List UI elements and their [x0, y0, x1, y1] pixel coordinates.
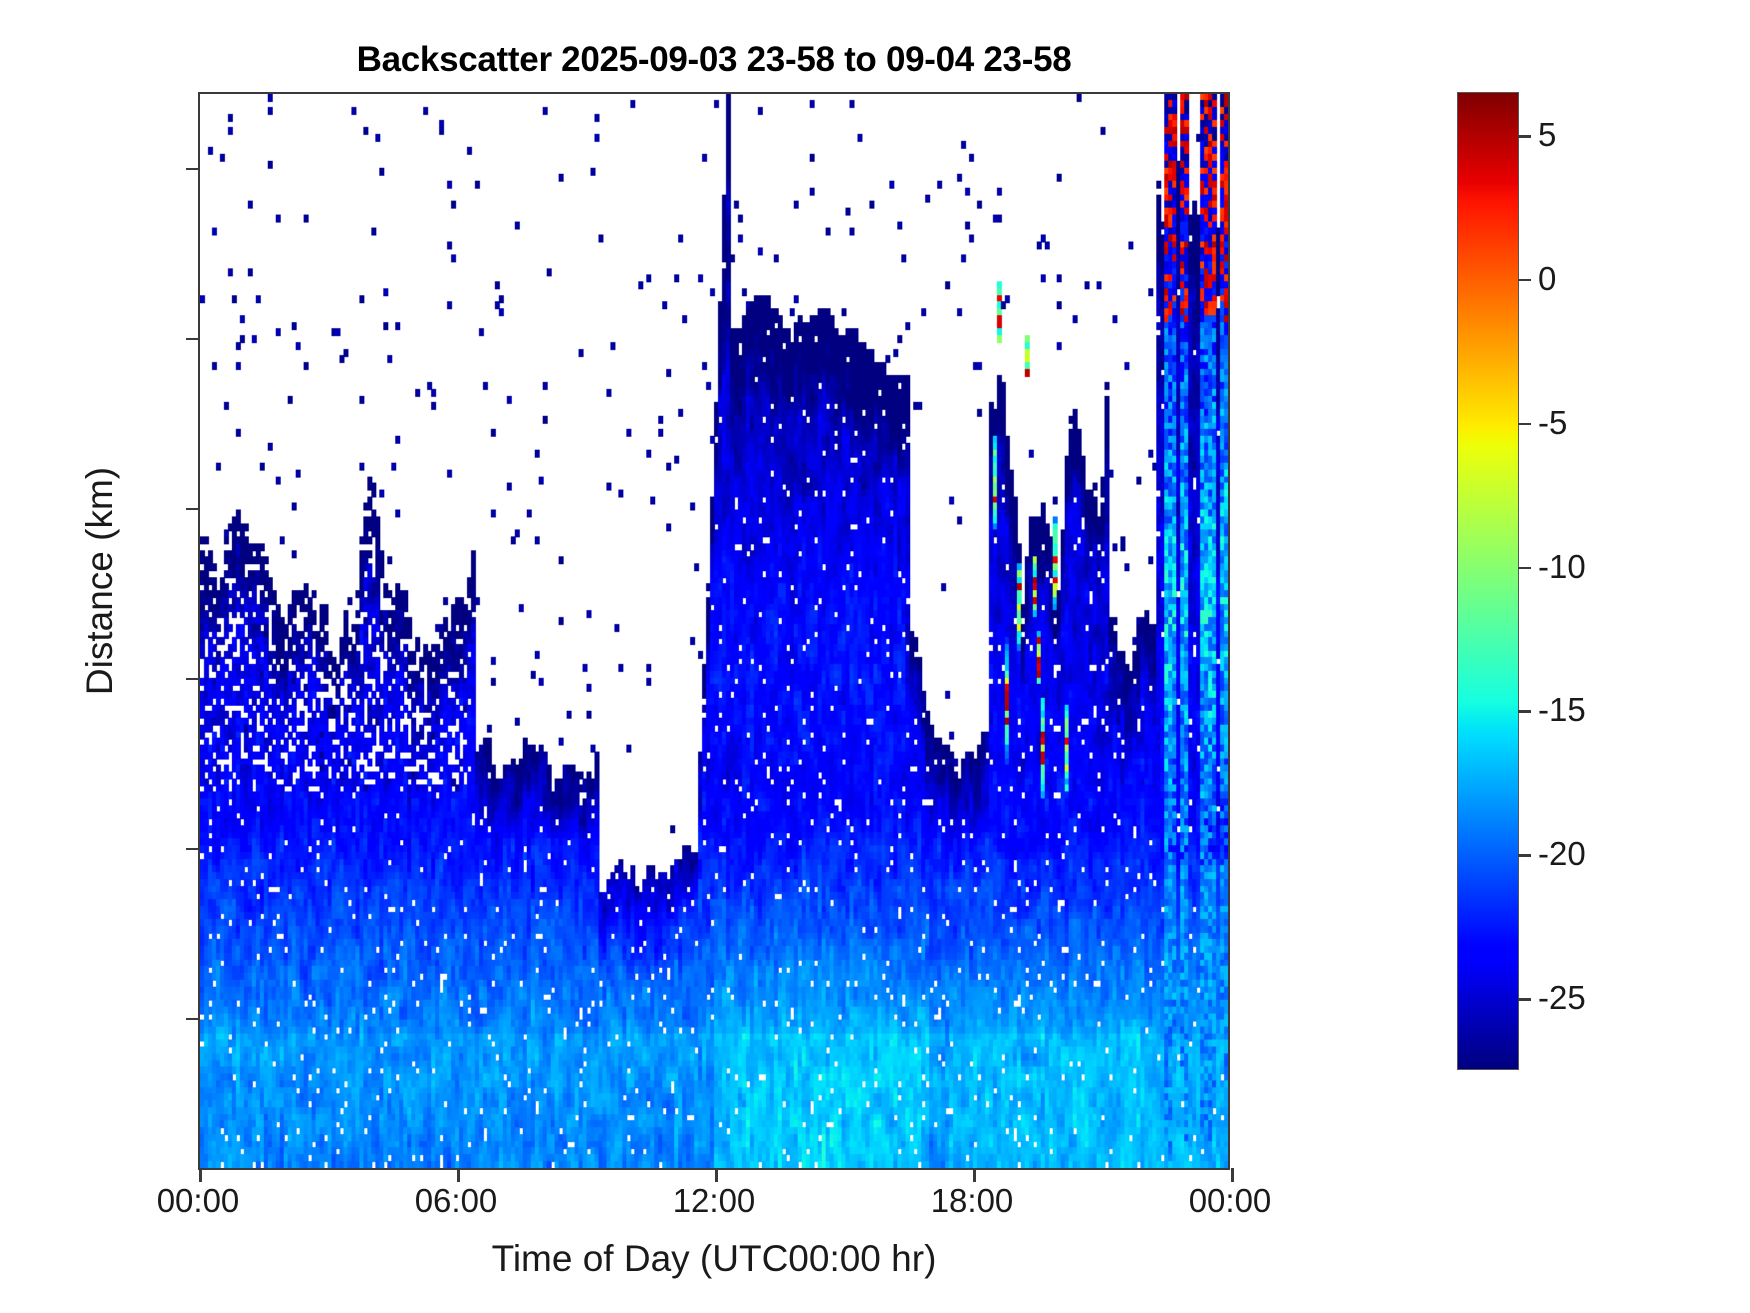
colorbar-tick-mark — [1518, 423, 1531, 426]
x-tick-mark — [973, 1168, 976, 1182]
colorbar-tick-label: 5 — [1538, 116, 1678, 154]
x-axis-title: Time of Day (UTC00:00 hr) — [198, 1238, 1230, 1280]
x-tick-mark — [715, 1168, 718, 1182]
y-tick-mark — [186, 848, 200, 851]
colorbar-tick-mark — [1518, 567, 1531, 570]
y-axis-title: Distance (km) — [79, 371, 121, 791]
figure-root: Backscatter 2025-09-03 23-58 to 09-04 23… — [0, 0, 1750, 1313]
colorbar-tick-mark — [1518, 135, 1531, 138]
colorbar-gradient-canvas — [1458, 93, 1518, 1069]
colorbar-tick-label: -5 — [1538, 404, 1678, 442]
x-tick-label: 00:00 — [88, 1182, 308, 1220]
y-tick-mark — [186, 508, 200, 511]
x-tick-label: 18:00 — [862, 1182, 1082, 1220]
x-tick-label: 06:00 — [346, 1182, 566, 1220]
colorbar-tick-mark — [1518, 710, 1531, 713]
x-tick-label: 12:00 — [604, 1182, 824, 1220]
colorbar-tick-label: 0 — [1538, 260, 1678, 298]
colorbar-tick-label: -25 — [1538, 979, 1678, 1017]
y-tick-mark — [186, 168, 200, 171]
colorbar-tick-mark — [1518, 998, 1531, 1001]
heatmap-plot-area[interactable] — [198, 92, 1230, 1170]
y-tick-mark — [186, 1018, 200, 1021]
x-tick-mark — [1231, 1168, 1234, 1182]
colorbar-tick-label: -20 — [1538, 835, 1678, 873]
y-tick-mark — [186, 678, 200, 681]
x-tick-mark — [199, 1168, 202, 1182]
colorbar-tick-label: -15 — [1538, 691, 1678, 729]
x-tick-label: 00:00 — [1120, 1182, 1340, 1220]
backscatter-heatmap-canvas — [200, 94, 1228, 1168]
x-tick-mark — [457, 1168, 460, 1182]
colorbar-tick-mark — [1518, 854, 1531, 857]
colorbar-tick-label: -10 — [1538, 548, 1678, 586]
colorbar-tick-mark — [1518, 279, 1531, 282]
colorbar[interactable] — [1457, 92, 1519, 1070]
y-tick-mark — [186, 338, 200, 341]
page-title: Backscatter 2025-09-03 23-58 to 09-04 23… — [198, 40, 1230, 80]
